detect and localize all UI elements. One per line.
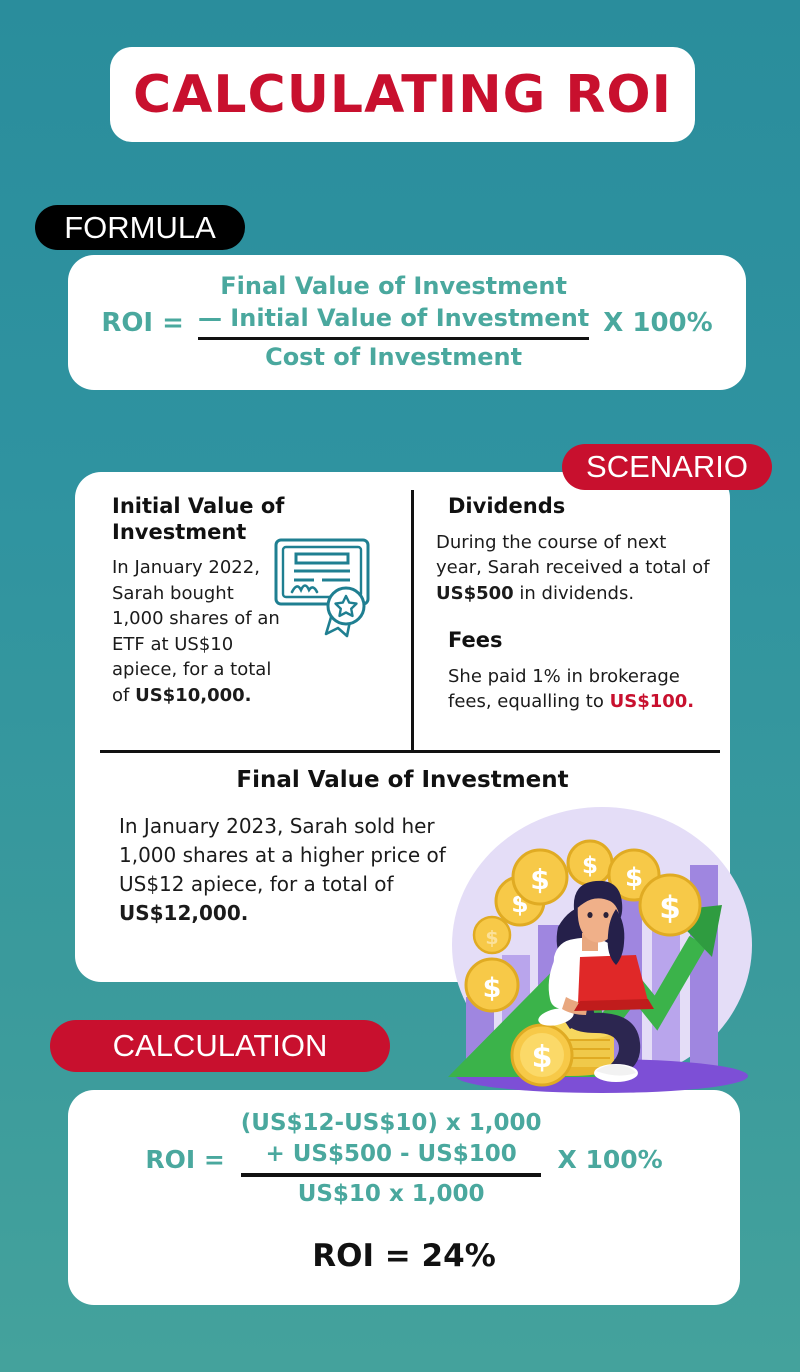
fees-heading: Fees <box>436 628 710 654</box>
initial-value-body: In January 2022, Sarah bought 1,000 shar… <box>112 555 290 708</box>
calculation-denominator: US$10 x 1,000 <box>298 1179 485 1210</box>
fees-body: She paid 1% in brokerage fees, equalling… <box>436 664 710 715</box>
scenario-horizontal-divider <box>100 750 720 753</box>
scenario-columns: Initial Value of Investment In January 2… <box>75 472 730 715</box>
calculation-card: ROI = (US$12-US$10) x 1,000 + US$500 - U… <box>68 1090 740 1305</box>
svg-text:$: $ <box>582 853 598 879</box>
calculation-multiplier: X 100% <box>557 1145 662 1174</box>
formula-badge: FORMULA <box>35 205 245 250</box>
formula-roi-label: ROI = <box>101 308 184 338</box>
calculation-badge-label: CALCULATION <box>113 1028 328 1064</box>
svg-text:$: $ <box>659 890 681 926</box>
final-value-body-text: In January 2023, Sarah sold her 1,000 sh… <box>119 814 446 896</box>
formula-multiplier: X 100% <box>603 308 712 338</box>
dividends-fees-column: Dividends During the course of next year… <box>410 472 730 715</box>
formula-fraction-bar <box>198 337 589 340</box>
svg-text:$: $ <box>530 863 549 896</box>
dividends-body: During the course of next year, Sarah re… <box>436 530 710 607</box>
formula-numerator-line-2: — Initial Value of Investment <box>198 303 589 335</box>
dividends-amount: US$500 <box>436 583 514 604</box>
formula-badge-label: FORMULA <box>64 210 216 246</box>
final-value-amount: US$12,000. <box>119 901 248 925</box>
scenario-badge: SCENARIO <box>562 444 772 490</box>
growth-investment-illustration: $ $ $ $ $ $ $ $ <box>430 805 770 1095</box>
scenario-badge-label: SCENARIO <box>586 449 748 485</box>
svg-text:$: $ <box>625 863 643 893</box>
scenario-vertical-divider <box>411 490 414 750</box>
page-title: CALCULATING ROI <box>133 65 672 125</box>
final-value-heading: Final Value of Investment <box>75 767 730 793</box>
svg-text:$: $ <box>485 927 498 949</box>
calculation-numerator-line-1: (US$12-US$10) x 1,000 <box>241 1108 542 1139</box>
calculation-badge: CALCULATION <box>50 1020 390 1072</box>
dividends-body-text-end: in dividends. <box>514 583 634 604</box>
svg-text:$: $ <box>532 1040 553 1075</box>
calculation-numerator-line-2: + US$500 - US$100 <box>265 1139 516 1170</box>
calculation-roi-label: ROI = <box>145 1145 224 1174</box>
calculation-equation: ROI = (US$12-US$10) x 1,000 + US$500 - U… <box>68 1108 740 1210</box>
formula-fraction: Final Value of Investment — Initial Valu… <box>198 271 589 374</box>
initial-value-column: Initial Value of Investment In January 2… <box>75 472 410 715</box>
page-title-card: CALCULATING ROI <box>110 47 695 142</box>
initial-value-amount: US$10,000. <box>135 685 251 706</box>
final-value-body: In January 2023, Sarah sold her 1,000 sh… <box>119 812 479 928</box>
calculation-result: ROI = 24% <box>68 1238 740 1274</box>
fees-amount: US$100. <box>610 691 695 712</box>
formula-equation: ROI = Final Value of Investment — Initia… <box>68 255 746 390</box>
dividends-body-text: During the course of next year, Sarah re… <box>436 532 710 579</box>
formula-numerator-line-1: Final Value of Investment <box>220 271 567 303</box>
certificate-icon <box>270 530 382 646</box>
calculation-fraction-bar <box>241 1173 542 1177</box>
formula-denominator: Cost of Investment <box>265 342 522 374</box>
initial-value-body-text: In January 2022, Sarah bought 1,000 shar… <box>112 557 280 706</box>
svg-text:$: $ <box>483 973 502 1004</box>
calculation-fraction: (US$12-US$10) x 1,000 + US$500 - US$100 … <box>241 1108 542 1210</box>
formula-card: ROI = Final Value of Investment — Initia… <box>68 255 746 390</box>
dividends-heading: Dividends <box>436 494 710 520</box>
